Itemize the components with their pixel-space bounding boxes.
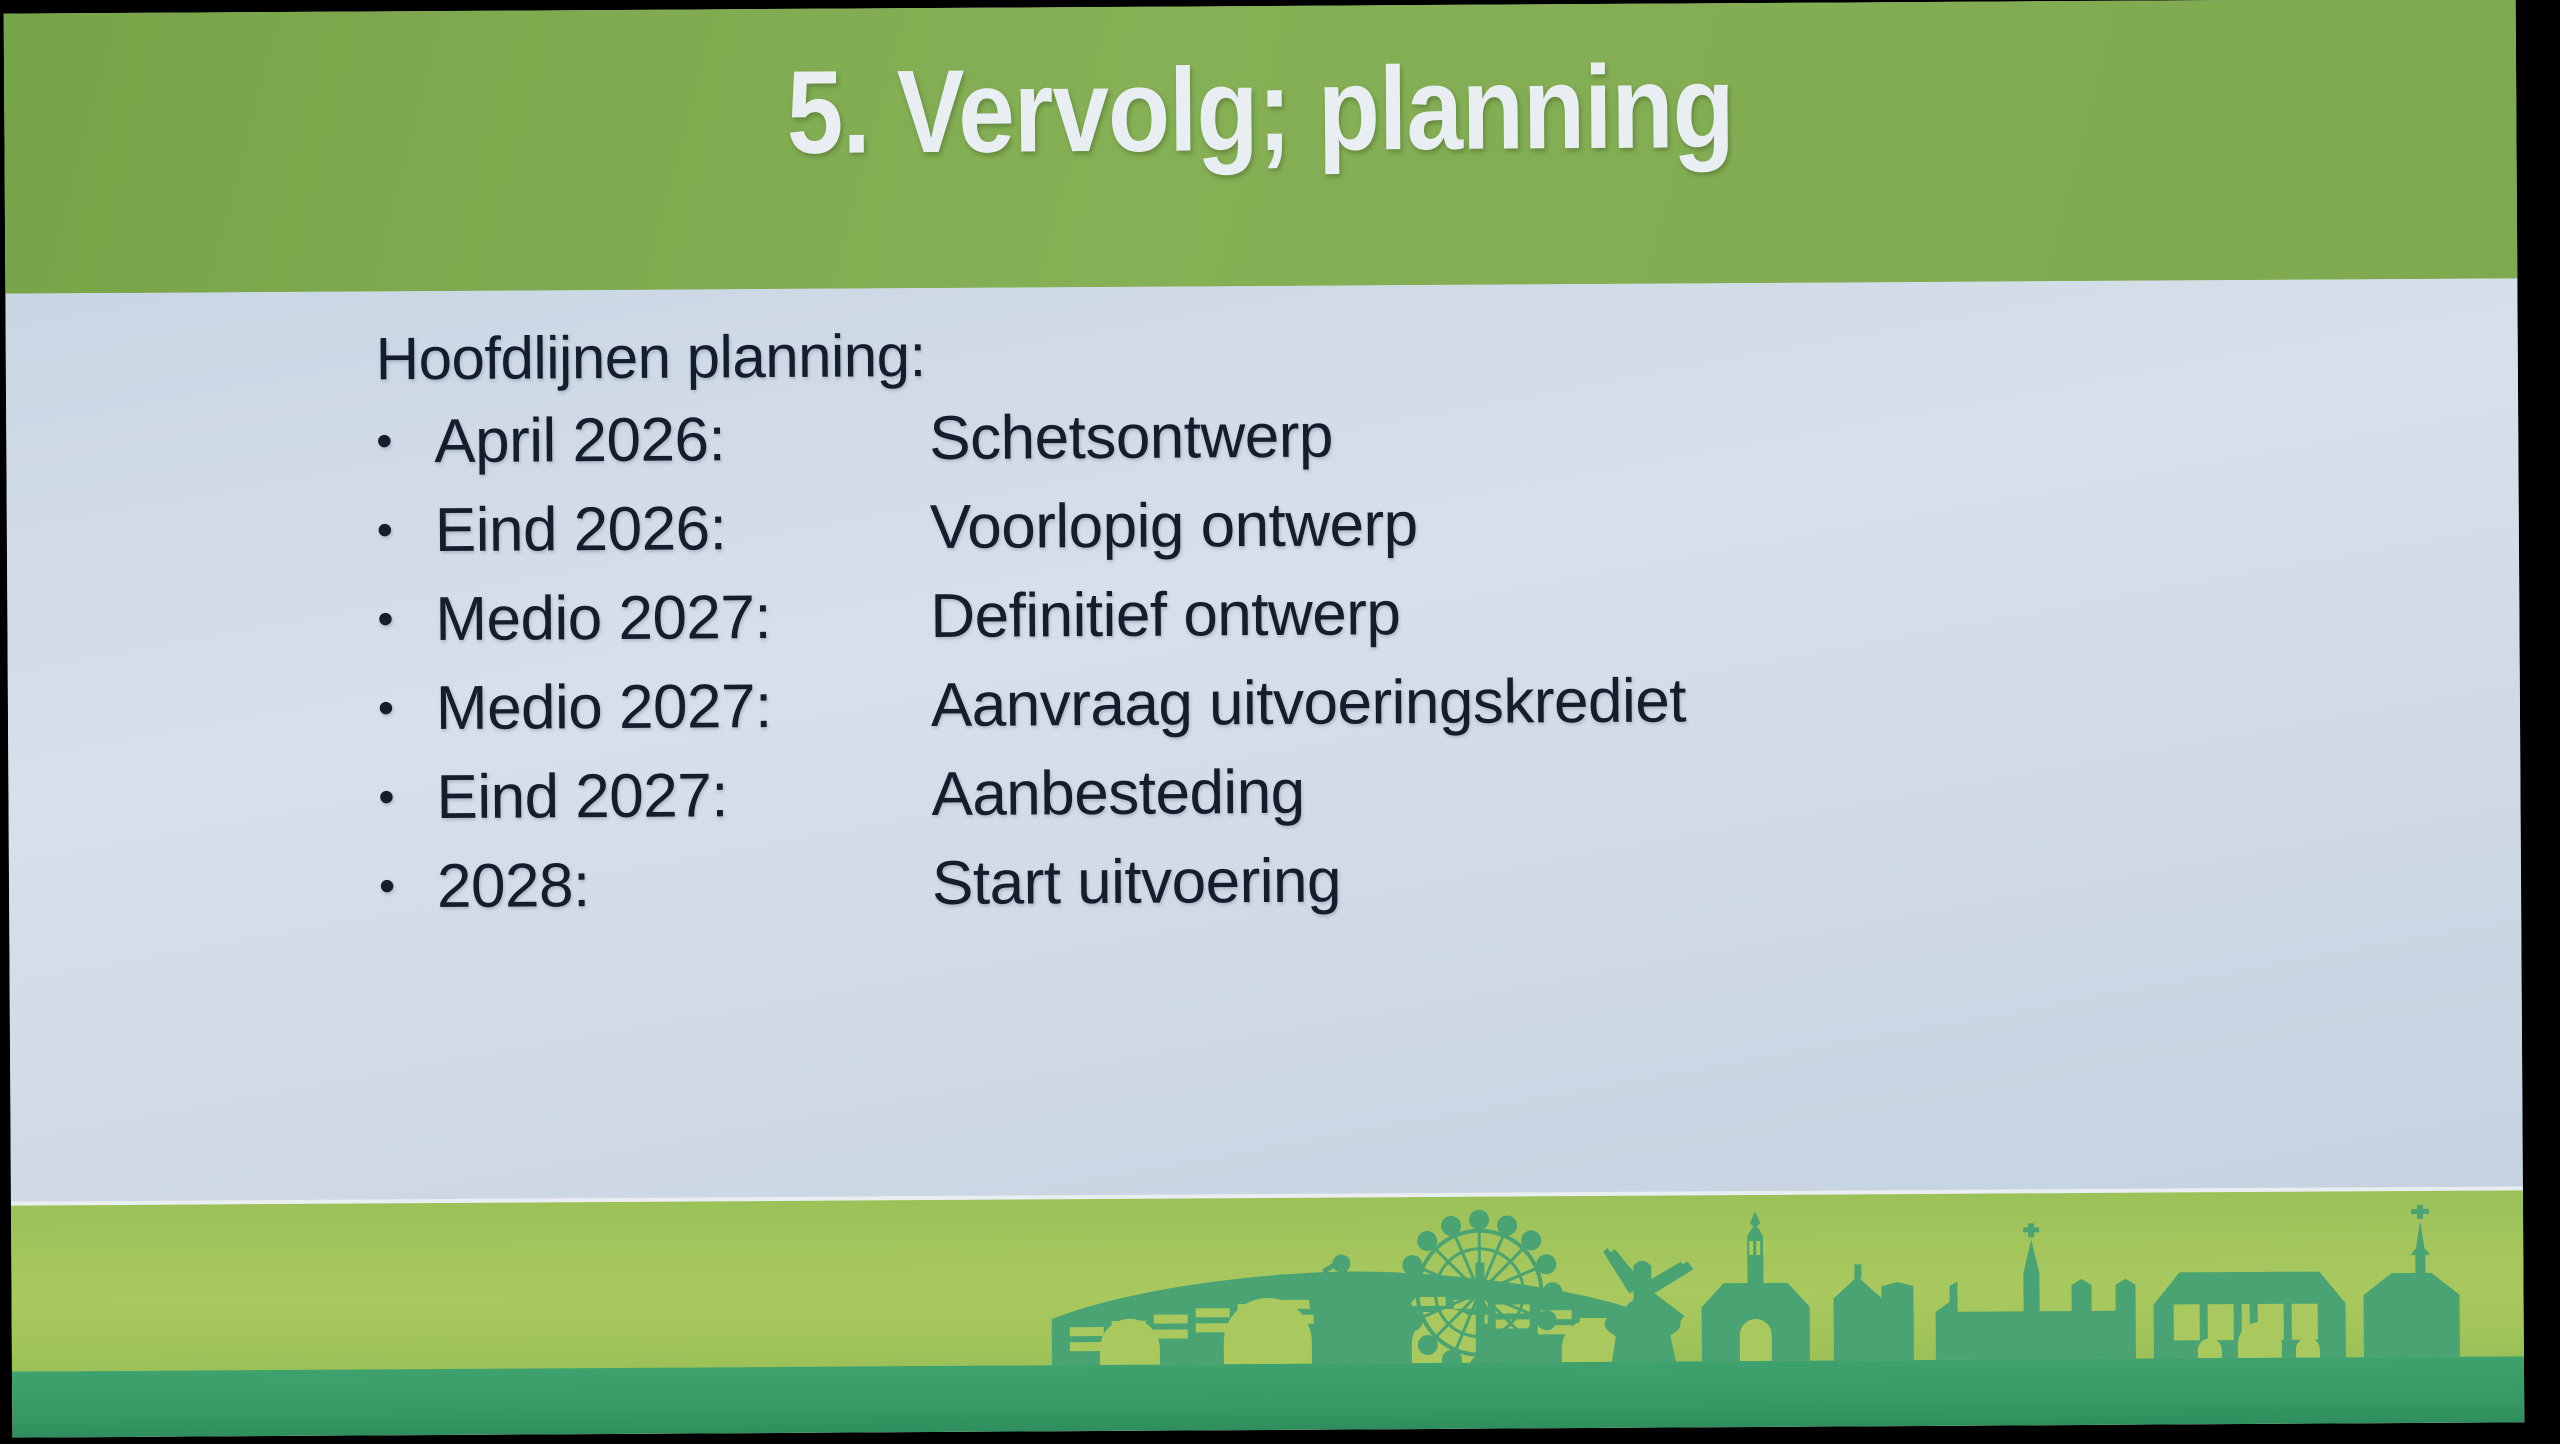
planning-date: April 2026: [434, 408, 929, 473]
slide-body: Hoofdlijnen planning: • April 2026: Sche… [5, 278, 2523, 1205]
planning-phase: Schetsontwerp [929, 399, 2458, 470]
presentation-slide: 5. Vervolg; planning Hoofdlijnen plannin… [4, 0, 2525, 1438]
planning-row: • 2028: Start uitvoering [379, 844, 2461, 919]
planning-phase: Start uitvoering [932, 844, 2461, 915]
bullet-icon: • [378, 684, 436, 730]
bullet-icon: • [378, 773, 436, 819]
planning-heading: Hoofdlijnen planning: [376, 317, 2458, 390]
projected-slide-photo: 5. Vervolg; planning Hoofdlijnen plannin… [0, 0, 2560, 1444]
planning-list: • April 2026: Schetsontwerp • Eind 2026:… [376, 399, 2461, 919]
planning-row: • Medio 2027: Definitief ontwerp [377, 577, 2459, 652]
gabled-townhouse-icon [1833, 1264, 1914, 1360]
planning-row: • Eind 2026: Voorlopig ontwerp [377, 488, 2459, 563]
planning-phase: Definitief ontwerp [930, 577, 2459, 648]
footer-dark-green-band [12, 1356, 2524, 1437]
bullet-icon: • [377, 595, 435, 641]
market-hall-arcade-icon [2153, 1271, 2346, 1358]
planning-date: Medio 2027: [435, 586, 930, 651]
church-with-bell-tower-icon [1701, 1211, 1810, 1362]
planning-row: • April 2026: Schetsontwerp [376, 399, 2458, 474]
planning-row: • Medio 2027: Aanvraag uitvoeringskredie… [378, 666, 2460, 741]
bullet-icon: • [377, 506, 435, 552]
planning-row: • Eind 2027: Aanbesteding [378, 755, 2460, 830]
planning-phase: Aanbesteding [931, 755, 2460, 826]
planning-phase: Aanvraag uitvoeringskrediet [931, 666, 2460, 737]
historic-building-with-spires-icon [1935, 1223, 2136, 1360]
planning-date: 2028: [437, 853, 932, 918]
church-with-tall-spire-icon [2363, 1205, 2460, 1358]
planning-date: Eind 2026: [435, 497, 930, 562]
slide-footer-band [11, 1190, 2524, 1437]
slide-header-band: 5. Vervolg; planning [4, 0, 2518, 294]
ferris-wheel-icon [1396, 1209, 1563, 1376]
planning-date: Eind 2027: [436, 764, 931, 829]
slide-title: 5. Vervolg; planning [180, 35, 2341, 184]
arched-bridge-with-cyclist-icon [1051, 1253, 1652, 1366]
bullet-icon: • [379, 862, 437, 908]
planning-phase: Voorlopig ontwerp [930, 488, 2459, 559]
planning-date: Medio 2027: [436, 675, 931, 740]
slide-content: Hoofdlijnen planning: • April 2026: Sche… [376, 317, 2462, 946]
bullet-icon: • [376, 417, 434, 463]
